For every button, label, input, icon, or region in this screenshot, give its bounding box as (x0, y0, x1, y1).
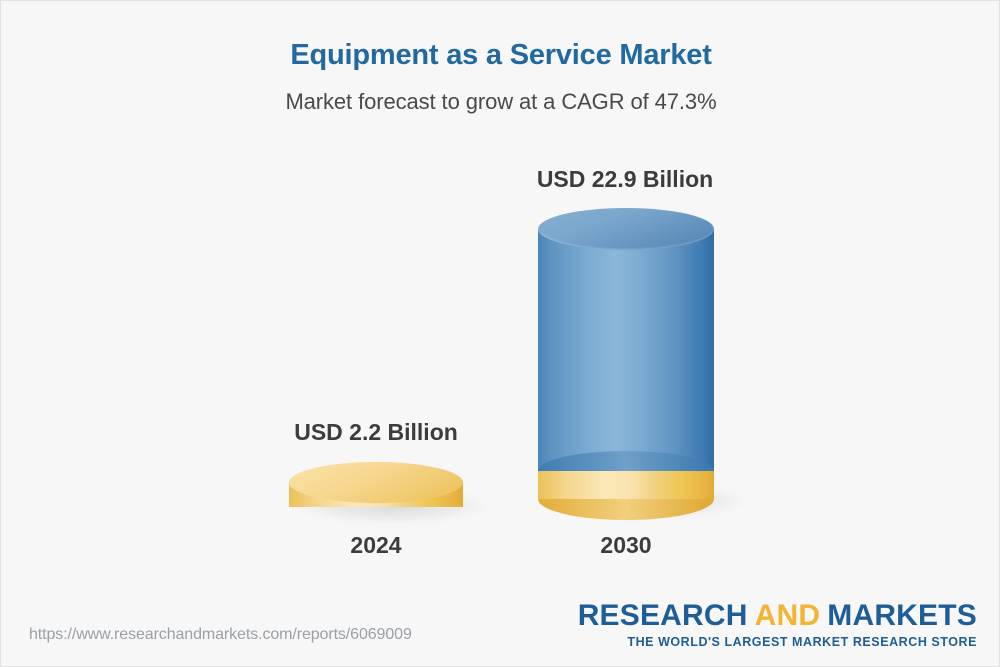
cylinder-top-cap-2024 (289, 462, 463, 503)
brand-word-research: RESEARCH (578, 599, 748, 632)
cylinder-top-cap-2030 (538, 208, 714, 250)
cylinder-base-front-2030 (538, 471, 714, 499)
value-label-2030: USD 22.9 Billion (475, 166, 775, 193)
value-label-2024: USD 2.2 Billion (226, 419, 526, 446)
brand-word-and: AND (755, 599, 821, 632)
source-url[interactable]: https://www.researchandmarkets.com/repor… (29, 626, 412, 644)
infographic-canvas: Equipment as a Service Market Market for… (0, 0, 1000, 667)
category-label-2030: 2030 (476, 532, 776, 559)
cylinder-growth-segment-2030 (538, 229, 714, 472)
brand-name: RESEARCHANDMARKETS (578, 601, 977, 631)
brand-tagline: THE WORLD'S LARGEST MARKET RESEARCH STOR… (578, 636, 977, 649)
chart-plot-area: USD 2.2 Billion 2024 USD 22.9 Billion (1, 1, 1000, 601)
brand-word-markets: MARKETS (827, 599, 977, 632)
brand-logo[interactable]: RESEARCHANDMARKETS THE WORLD'S LARGEST M… (578, 601, 977, 649)
